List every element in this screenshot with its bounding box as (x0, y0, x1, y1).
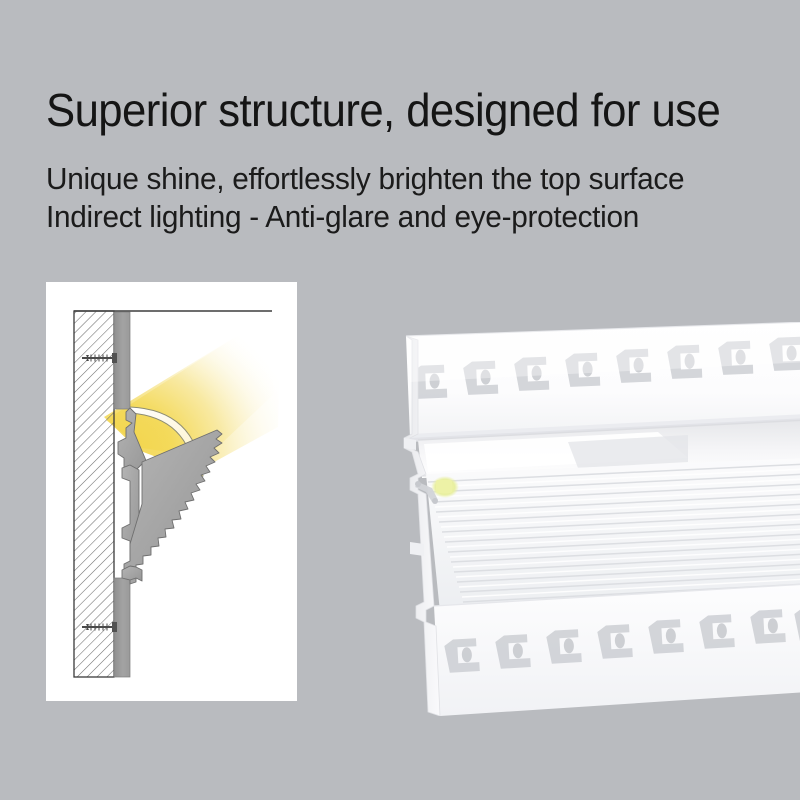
page-title: Superior structure, designed for use (46, 84, 711, 136)
subtitle-block: Unique shine, effortlessly brighten the … (46, 160, 747, 236)
led-channel-profile-3d (388, 322, 800, 716)
cross-section-diagram-card (46, 282, 297, 701)
subtitle-line-2: Indirect lighting - Anti-glare and eye-p… (46, 198, 747, 236)
product-photo (388, 322, 800, 716)
cross-section-diagram (46, 282, 297, 701)
wall-section (74, 311, 114, 677)
bottom-flange (434, 584, 800, 716)
subtitle-line-1: Unique shine, effortlessly brighten the … (46, 160, 747, 198)
product-slide: Superior structure, designed for use Uni… (0, 0, 800, 800)
